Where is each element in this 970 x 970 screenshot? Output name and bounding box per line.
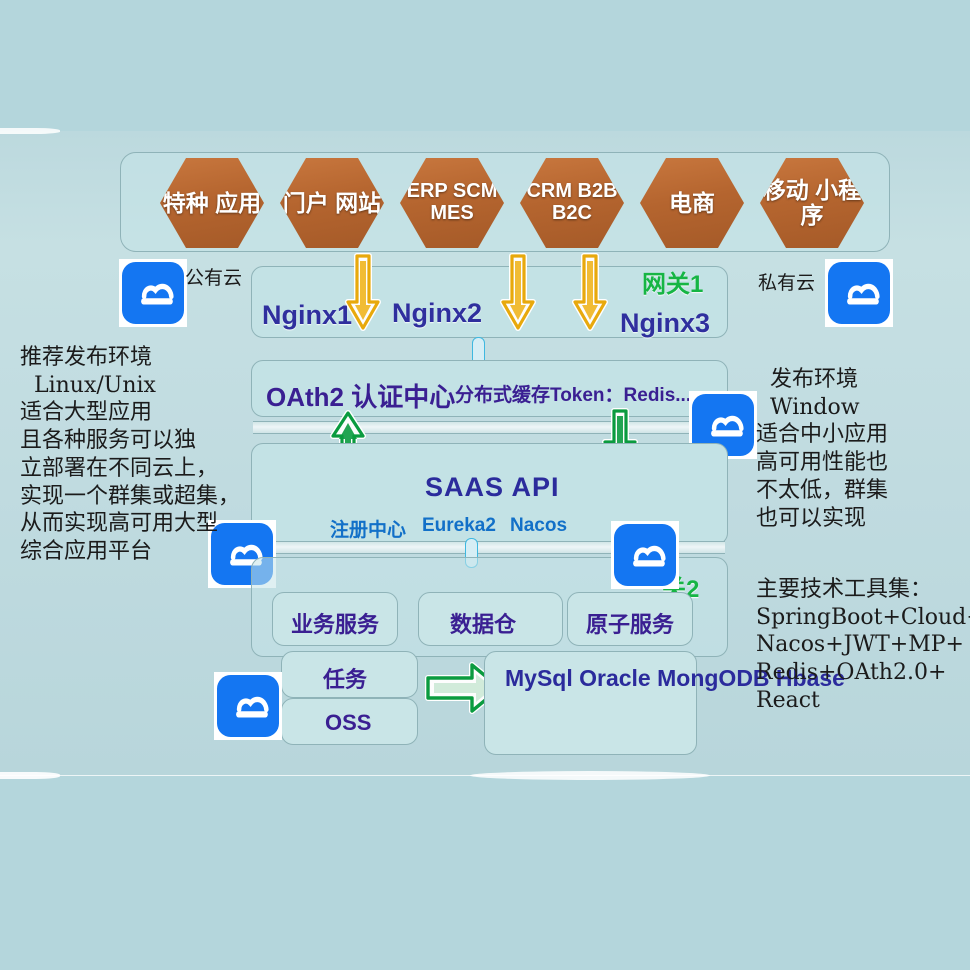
app-hexagon-label-0: 特种 应用 — [163, 191, 261, 216]
eureka2-label: Eureka2 — [422, 515, 496, 537]
gateway1-label: 网关1 — [642, 264, 703, 299]
right-note-deploy-text: 发布环境 Window 适合中小应用 高可用性能也 不太低，群集 也可以实现 — [756, 366, 888, 532]
app-hexagon-label-4: 电商 — [669, 191, 715, 216]
cloud-icon-gateway2 — [611, 521, 679, 589]
diagram-canvas: 特种 应用 门户 网站 ERP SCM MES CRM B2B B2C 电商 移… — [0, 0, 970, 970]
arrow-down-yellow-icon-1 — [345, 252, 381, 334]
app-hexagon-label-1: 门户 网站 — [283, 191, 381, 216]
saas-api-label: SAAS API — [425, 472, 560, 503]
service-label-0: 业务服务 — [291, 607, 379, 639]
cloud-icon-bottom-left — [214, 672, 282, 740]
rail-oauth-saas — [253, 421, 725, 434]
app-hexagon-label-2: ERP SCM MES — [400, 181, 504, 224]
oauth2-label: OAth2 认证中心 — [266, 377, 455, 414]
arrow-down-yellow-icon-2 — [500, 252, 536, 334]
panel-gloss — [470, 771, 710, 780]
cloud-icon-public — [119, 259, 187, 327]
nginx1-label: Nginx1 — [262, 300, 352, 331]
registry-center-label: 注册中心 — [330, 515, 406, 542]
public-cloud-label: 公有云 — [185, 263, 242, 290]
task-label: 任务 — [323, 662, 367, 694]
app-hexagon-label-5: 移动 小程序 — [760, 178, 864, 228]
app-hexagon-label-3: CRM B2B B2C — [520, 181, 624, 224]
arrow-down-yellow-icon-3 — [572, 252, 608, 334]
oss-label: OSS — [325, 710, 371, 736]
nginx2-label: Nginx2 — [392, 298, 482, 329]
service-label-2: 原子服务 — [586, 607, 674, 639]
private-cloud-label: 私有云 — [758, 268, 815, 295]
nacos-label: Nacos — [510, 515, 567, 537]
service-label-1: 数据仓 — [450, 607, 516, 639]
left-note-text: 推荐发布环境 Linux/Unix 适合大型应用 且各种服务可以独 立部署在不同… — [20, 344, 240, 566]
cloud-icon-private — [825, 259, 893, 327]
nginx3-label: Nginx3 — [620, 308, 710, 339]
right-note-tech-text: 主要技术工具集： SpringBoot+Cloud+ Nacos+JWT+MP+… — [756, 576, 970, 715]
redis-cache-label: 分布式缓存Token：Redis.... — [455, 380, 696, 407]
